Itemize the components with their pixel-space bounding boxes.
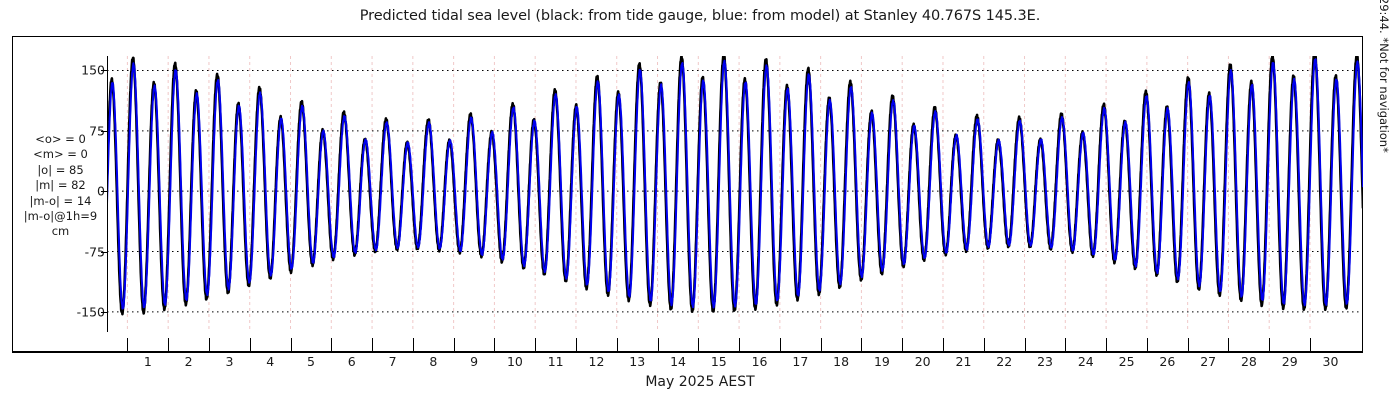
x-tick-label: 2	[185, 354, 193, 369]
y-tick-mark	[101, 191, 107, 192]
x-tick-mark	[1025, 338, 1026, 352]
x-tick-label: 19	[874, 354, 890, 369]
x-tick-mark	[1065, 338, 1066, 352]
x-tick-mark	[291, 338, 292, 352]
x-tick-mark	[1228, 338, 1229, 352]
x-tick-label: 27	[1200, 354, 1216, 369]
x-tick-label: 9	[470, 354, 478, 369]
x-tick-label: 28	[1241, 354, 1257, 369]
y-axis-labels: 150750-75-150	[60, 56, 105, 332]
x-tick-mark	[127, 338, 128, 352]
x-tick-label: 4	[266, 354, 274, 369]
x-tick-mark	[250, 338, 251, 352]
x-tick-label: 11	[548, 354, 564, 369]
x-tick-label: 24	[1078, 354, 1094, 369]
y-tick-mark	[101, 312, 107, 313]
x-tick-mark	[617, 338, 618, 352]
x-tick-label: 29	[1282, 354, 1298, 369]
x-tick-label: 30	[1323, 354, 1339, 369]
x-tick-label: 21	[956, 354, 972, 369]
x-tick-mark	[821, 338, 822, 352]
x-tick-mark	[984, 338, 985, 352]
x-tick-label: 14	[670, 354, 686, 369]
x-tick-mark	[494, 338, 495, 352]
x-tick-mark	[780, 338, 781, 352]
x-tick-mark	[698, 338, 699, 352]
x-tick-label: 23	[1037, 354, 1053, 369]
x-tick-mark	[658, 338, 659, 352]
x-tick-mark	[535, 338, 536, 352]
x-tick-mark	[372, 338, 373, 352]
x-tick-mark	[1269, 338, 1270, 352]
credit-holder: © IMOS 03-Apr-2025 11:29:44. *Not for na…	[1382, 4, 1400, 400]
tidal-chart-page: Predicted tidal sea level (black: from t…	[0, 0, 1400, 400]
x-tick-mark	[739, 338, 740, 352]
x-axis-title: May 2025 AEST	[0, 374, 1400, 390]
x-tick-label: 3	[225, 354, 233, 369]
imos-credit: © IMOS 03-Apr-2025 11:29:44. *Not for na…	[1377, 0, 1391, 153]
x-tick-label: 7	[389, 354, 397, 369]
x-tick-label: 15	[711, 354, 727, 369]
x-tick-label: 16	[752, 354, 768, 369]
chart-title: Predicted tidal sea level (black: from t…	[0, 8, 1400, 24]
x-tick-label: 18	[833, 354, 849, 369]
x-tick-mark	[331, 338, 332, 352]
tidal-series-svg	[107, 56, 1363, 332]
x-tick-label: 26	[1159, 354, 1175, 369]
x-tick-label: 6	[348, 354, 356, 369]
x-tick-mark	[168, 338, 169, 352]
x-tick-mark	[576, 338, 577, 352]
x-tick-label: 10	[507, 354, 523, 369]
x-tick-label: 22	[996, 354, 1012, 369]
x-tick-mark	[454, 338, 455, 352]
x-tick-mark	[1147, 338, 1148, 352]
y-tick-mark	[101, 70, 107, 71]
x-tick-label: 1	[144, 354, 152, 369]
y-tick-mark	[101, 131, 107, 132]
x-tick-label: 13	[629, 354, 645, 369]
x-tick-label: 25	[1119, 354, 1135, 369]
y-axis-spine	[107, 56, 108, 332]
x-tick-mark	[1188, 338, 1189, 352]
x-tick-mark	[1310, 338, 1311, 352]
plot-area	[107, 56, 1363, 332]
y-tick-mark	[101, 252, 107, 253]
x-tick-mark	[861, 338, 862, 352]
x-tick-label: 12	[589, 354, 605, 369]
x-tick-mark	[413, 338, 414, 352]
x-tick-mark	[902, 338, 903, 352]
x-tick-mark	[943, 338, 944, 352]
x-tick-label: 8	[429, 354, 437, 369]
x-tick-label: 17	[792, 354, 808, 369]
x-tick-mark	[1106, 338, 1107, 352]
x-axis-spine	[12, 352, 1363, 353]
x-tick-label: 20	[915, 354, 931, 369]
x-tick-label: 5	[307, 354, 315, 369]
x-tick-mark	[209, 338, 210, 352]
